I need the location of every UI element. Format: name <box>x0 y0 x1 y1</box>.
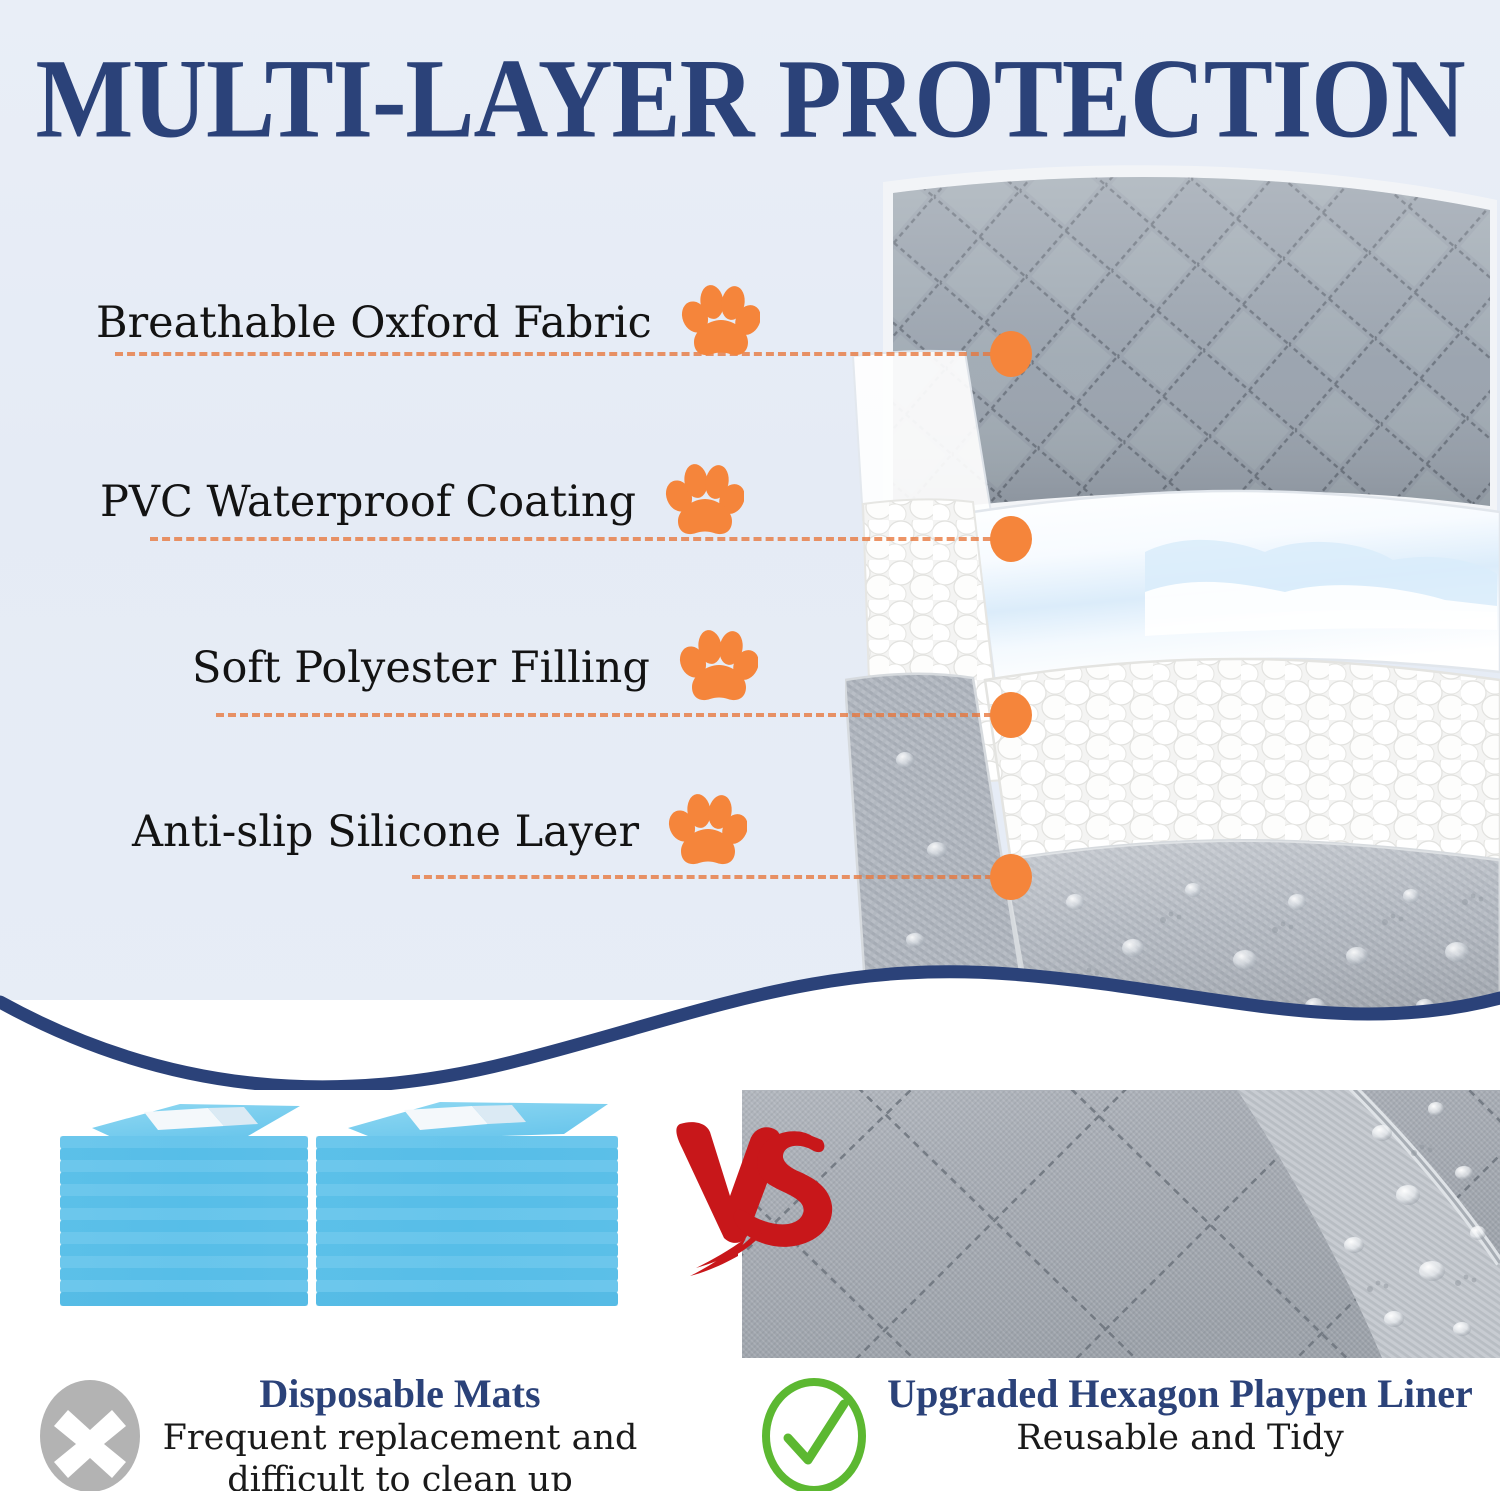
paw-icon <box>662 463 744 541</box>
feature-row-oxford-fabric: Breathable Oxford Fabric <box>96 283 760 363</box>
caption-title-disposable: Disposable Mats <box>150 1372 650 1417</box>
pad-stack-left <box>60 1104 308 1306</box>
feature-label-pvc-coating: PVC Waterproof Coating <box>100 477 636 527</box>
marker-dot-2 <box>990 516 1032 562</box>
marker-dot-1 <box>990 331 1032 377</box>
feature-row-pvc-coating: PVC Waterproof Coating <box>100 462 744 542</box>
paw-icon <box>678 284 760 362</box>
feature-label-polyester-filling: Soft Polyester Filling <box>192 643 650 693</box>
page-title: MULTI-LAYER PROTECTION <box>0 42 1500 155</box>
marker-dot-3 <box>990 692 1032 738</box>
disposable-pads-image <box>48 1082 658 1312</box>
paw-icon <box>676 629 758 707</box>
feature-label-silicone-layer: Anti-slip Silicone Layer <box>132 807 639 857</box>
feature-row-silicone-layer: Anti-slip Silicone Layer <box>132 792 747 872</box>
connector-line-3 <box>216 713 1016 717</box>
paw-icon <box>665 793 747 871</box>
wave-divider <box>0 940 1500 1090</box>
infographic-canvas: MULTI-LAYER PROTECTION Breathable Oxford… <box>0 0 1500 1491</box>
caption-playpen-liner: Upgraded Hexagon Playpen Liner Reusable … <box>880 1372 1480 1459</box>
multi-layer-illustration <box>845 160 1500 1020</box>
feature-label-oxford-fabric: Breathable Oxford Fabric <box>96 298 652 348</box>
check-mark-icon <box>762 1378 866 1491</box>
caption-subtitle-playpen-line1: Reusable and Tidy <box>880 1417 1480 1459</box>
feature-row-polyester-filling: Soft Polyester Filling <box>192 628 758 708</box>
marker-dot-4 <box>990 854 1032 900</box>
caption-subtitle-disposable-line2: difficult to clean up <box>150 1459 650 1491</box>
connector-line-4 <box>412 875 1017 879</box>
caption-subtitle-disposable-line1: Frequent replacement and <box>150 1417 650 1459</box>
pad-stack-right <box>316 1102 618 1306</box>
caption-title-playpen: Upgraded Hexagon Playpen Liner <box>880 1372 1480 1417</box>
x-mark-icon <box>38 1378 142 1491</box>
caption-disposable-mats: Disposable Mats Frequent replacement and… <box>150 1372 650 1491</box>
vs-graphic <box>662 1118 842 1298</box>
